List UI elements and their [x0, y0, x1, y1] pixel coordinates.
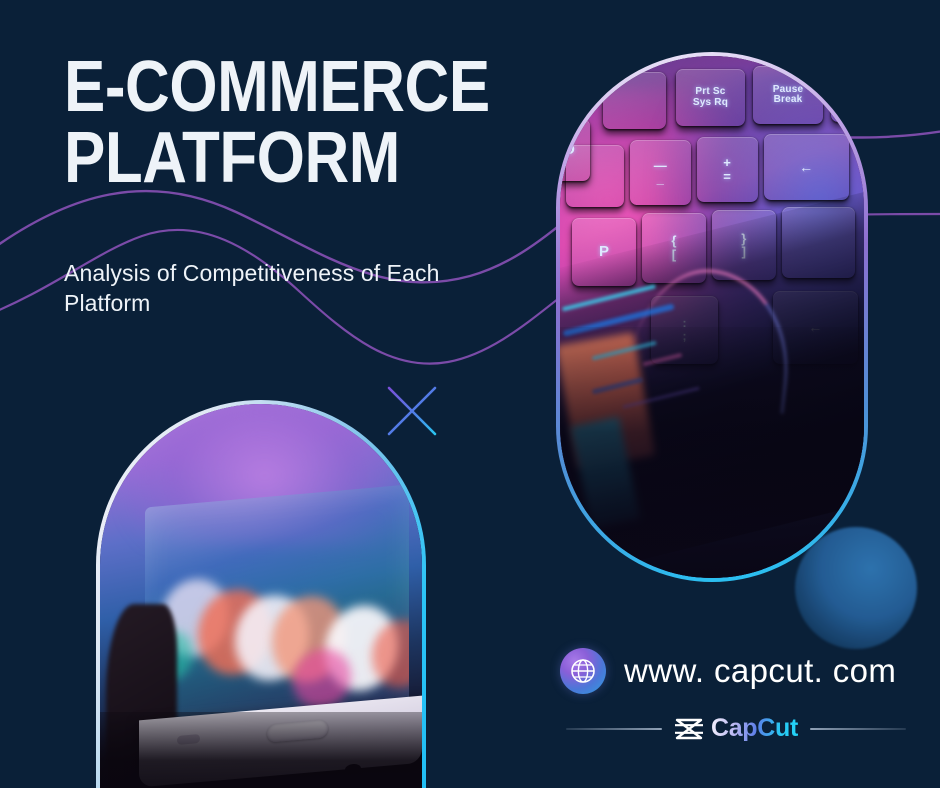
sparkle-icon [376, 375, 448, 447]
capcut-logo[interactable]: CapCut [674, 714, 798, 743]
title-line-1: E-COMMERCE [64, 52, 511, 123]
phone-screen [145, 484, 409, 732]
key-minus: —_ [630, 140, 691, 205]
key-pause-break: PauseBreak [753, 66, 823, 123]
key-f12 [603, 72, 667, 129]
website-url-row[interactable]: www. capcut. com [560, 648, 896, 694]
capcut-wordmark: CapCut [711, 714, 798, 743]
neon-keyboard-photo: Prt ScSys Rq PauseBreak —_ += ← O P {[ }… [560, 56, 864, 578]
poster-canvas: E-COMMERCE PLATFORM Analysis of Competit… [0, 0, 940, 788]
globe-icon [560, 648, 606, 694]
key-insert [831, 64, 864, 121]
capcut-logo-mark [674, 717, 704, 741]
website-url-text: www. capcut. com [624, 652, 896, 690]
title-line-2: PLATFORM [64, 123, 511, 194]
page-title: E-COMMERCE PLATFORM [64, 52, 584, 193]
key-print-screen: Prt ScSys Rq [676, 69, 746, 126]
subtitle-text: Analysis of Competitiveness of Each Plat… [64, 258, 464, 319]
divider-left [566, 728, 662, 730]
divider-right [810, 728, 906, 730]
hand-holding-phone-photo [100, 404, 422, 788]
brand-footer: CapCut [566, 714, 906, 743]
key-backspace: ← [764, 134, 849, 199]
phone-image-frame [96, 400, 426, 788]
keyboard-image-frame: Prt ScSys Rq PauseBreak —_ += ← O P {[ }… [556, 52, 868, 582]
key-plus-equals: += [697, 137, 758, 202]
